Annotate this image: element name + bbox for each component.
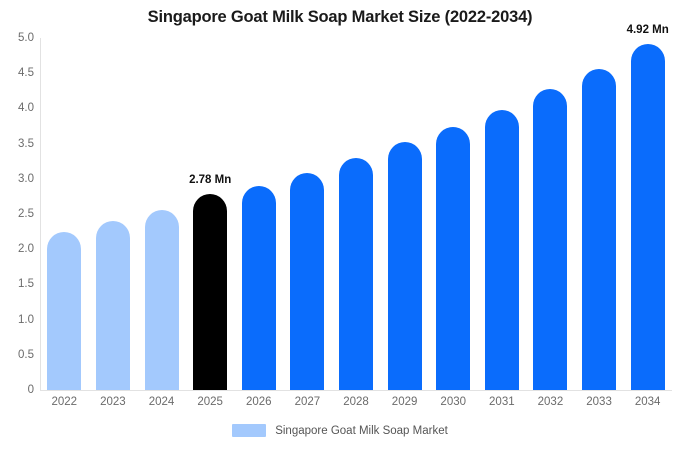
y-axis-tick-label: 3.0 — [0, 173, 34, 185]
chart-title: Singapore Goat Milk Soap Market Size (20… — [0, 8, 680, 27]
legend-swatch-icon — [232, 424, 266, 437]
x-axis-tick-label: 2032 — [526, 396, 575, 408]
x-axis-line — [40, 390, 672, 391]
x-axis: 2022202320242025202620272028202920302031… — [40, 396, 672, 416]
y-axis-tick-label: 5.0 — [0, 32, 34, 44]
x-axis-tick-label: 2026 — [234, 396, 283, 408]
y-axis-tick-label: 4.0 — [0, 102, 34, 114]
y-axis-tick-label: 1.0 — [0, 314, 34, 326]
y-axis-tick-label: 3.5 — [0, 138, 34, 150]
bar-2024[interactable] — [145, 210, 179, 390]
y-axis-tick-label: 0 — [0, 384, 34, 396]
y-axis-tick-label: 2.5 — [0, 208, 34, 220]
bar-value-label: 4.92 Mn — [617, 24, 679, 36]
bar-2029[interactable] — [388, 142, 422, 390]
x-axis-tick-label: 2023 — [89, 396, 138, 408]
bars-container: 2.78 Mn4.92 Mn — [40, 38, 672, 390]
bar-chart: Singapore Goat Milk Soap Market Size (20… — [0, 0, 680, 450]
bar-value-label: 2.78 Mn — [179, 174, 241, 186]
bar-2033[interactable] — [582, 69, 616, 390]
legend-label[interactable]: Singapore Goat Milk Soap Market — [275, 425, 448, 437]
bar-2028[interactable] — [339, 158, 373, 390]
bar-2025[interactable] — [193, 194, 227, 390]
x-axis-tick-label: 2034 — [623, 396, 672, 408]
bar-2026[interactable] — [242, 186, 276, 390]
y-axis-tick-label: 1.5 — [0, 278, 34, 290]
x-axis-tick-label: 2022 — [40, 396, 89, 408]
x-axis-tick-label: 2029 — [380, 396, 429, 408]
x-axis-tick-label: 2028 — [332, 396, 381, 408]
y-axis-tick-label: 4.5 — [0, 67, 34, 79]
bar-slot: 2.78 Mn — [186, 38, 235, 390]
bar-slot — [575, 38, 624, 390]
bar-2032[interactable] — [533, 89, 567, 390]
bar-slot — [40, 38, 89, 390]
bar-slot — [478, 38, 527, 390]
bar-slot — [332, 38, 381, 390]
bar-2022[interactable] — [47, 232, 81, 390]
bar-slot — [380, 38, 429, 390]
x-axis-tick-label: 2027 — [283, 396, 332, 408]
bar-2023[interactable] — [96, 221, 130, 390]
x-axis-tick-label: 2025 — [186, 396, 235, 408]
bar-slot — [283, 38, 332, 390]
bar-slot — [234, 38, 283, 390]
bar-2034[interactable] — [631, 44, 665, 390]
bar-slot: 4.92 Mn — [623, 38, 672, 390]
bar-slot — [526, 38, 575, 390]
bar-slot — [429, 38, 478, 390]
x-axis-tick-label: 2030 — [429, 396, 478, 408]
bar-2027[interactable] — [290, 173, 324, 390]
x-axis-tick-label: 2024 — [137, 396, 186, 408]
y-axis-tick-label: 2.0 — [0, 243, 34, 255]
x-axis-tick-label: 2033 — [575, 396, 624, 408]
bar-slot — [89, 38, 138, 390]
bar-2031[interactable] — [485, 110, 519, 390]
y-axis-tick-label: 0.5 — [0, 349, 34, 361]
bar-slot — [137, 38, 186, 390]
bar-2030[interactable] — [436, 127, 470, 390]
chart-legend: Singapore Goat Milk Soap Market — [0, 424, 680, 437]
x-axis-tick-label: 2031 — [478, 396, 527, 408]
